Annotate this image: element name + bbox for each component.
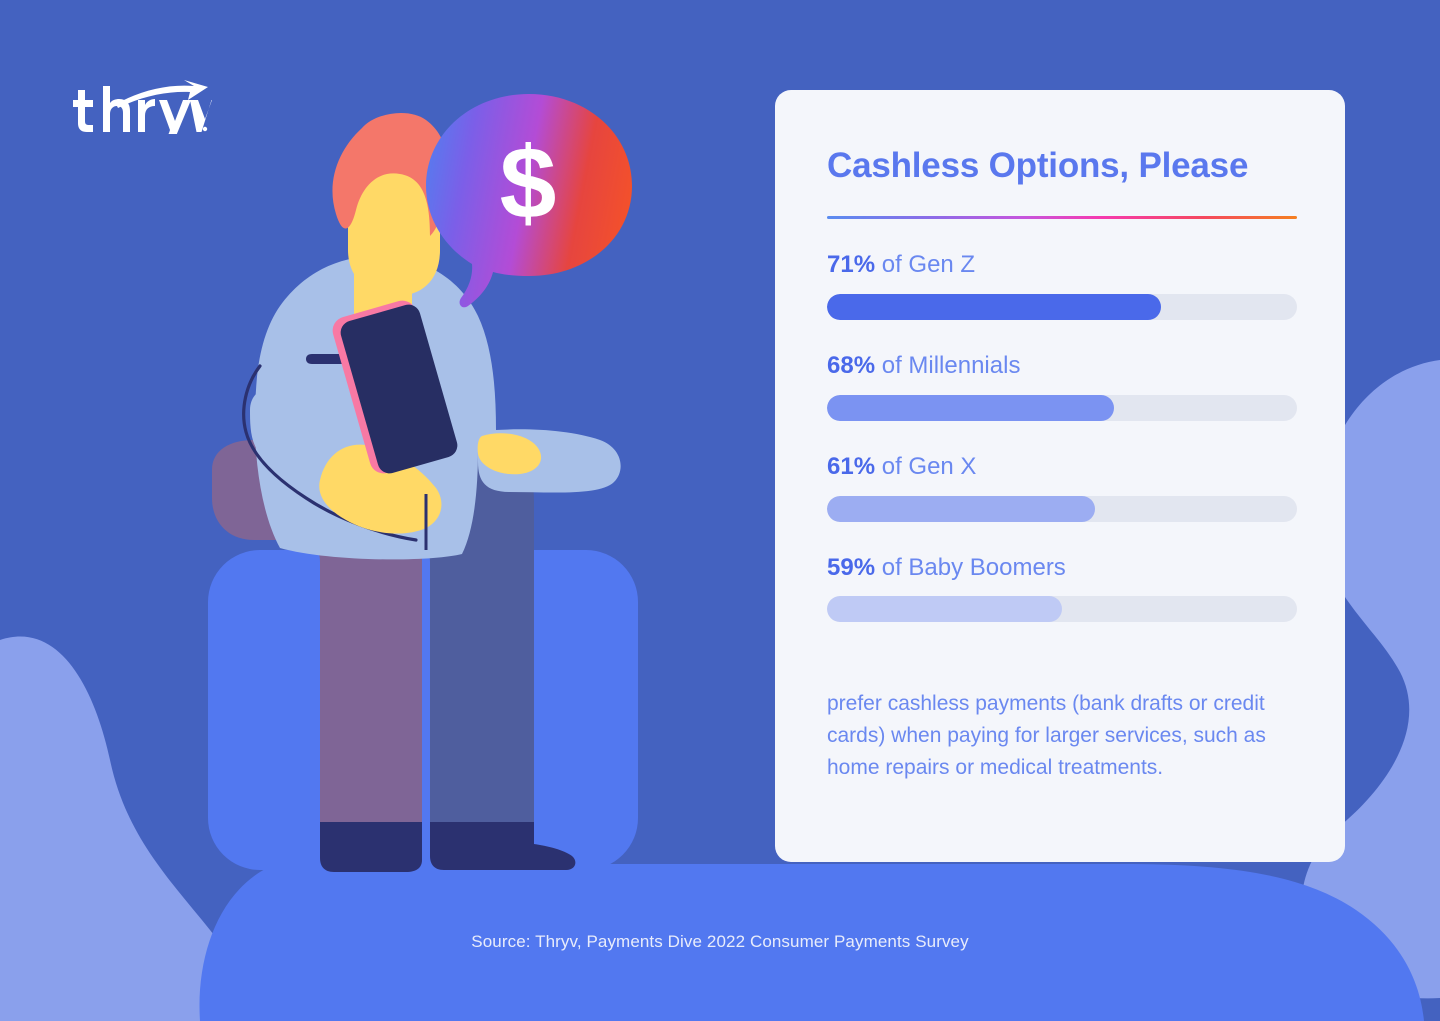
- stat-group: of Baby Boomers: [875, 554, 1066, 581]
- stat-label: 61% of Gen X: [827, 453, 1293, 482]
- stats-card: Cashless Options, Please 71% of Gen Z 68…: [775, 90, 1345, 862]
- stat-label: 71% of Gen Z: [827, 251, 1293, 280]
- stat-percent: 68%: [827, 352, 875, 379]
- card-footnote: prefer cashless payments (bank drafts or…: [827, 688, 1301, 784]
- stat-row-gen-x: 61% of Gen X: [827, 453, 1293, 522]
- source-attribution: Source: Thryv, Payments Dive 2022 Consum…: [0, 932, 1440, 952]
- stat-percent: 71%: [827, 251, 875, 278]
- shoe-left: [320, 822, 422, 872]
- stat-percent: 61%: [827, 453, 875, 480]
- stat-percent: 59%: [827, 554, 875, 581]
- stat-group: of Gen X: [875, 453, 976, 480]
- infographic-canvas: $ Cashless Options, Please 71% of Gen Z …: [0, 0, 1440, 1021]
- stat-row-gen-z: 71% of Gen Z: [827, 251, 1293, 320]
- page-title: Cashless Options, Please: [827, 146, 1293, 186]
- stat-label: 68% of Millennials: [827, 352, 1293, 381]
- stat-row-baby-boomers: 59% of Baby Boomers: [827, 554, 1293, 623]
- stat-label: 59% of Baby Boomers: [827, 554, 1293, 583]
- seat-shape: [208, 550, 638, 870]
- bar-fill: [827, 395, 1114, 421]
- stat-group: of Gen Z: [875, 251, 975, 278]
- stat-group: of Millennials: [875, 352, 1020, 379]
- bar-fill: [827, 596, 1062, 622]
- bar-track: [827, 496, 1297, 522]
- bar-track: [827, 395, 1297, 421]
- dollar-speech-bubble: $: [424, 92, 634, 314]
- stat-row-millennials: 68% of Millennials: [827, 352, 1293, 421]
- bar-fill: [827, 496, 1095, 522]
- bar-track: [827, 596, 1297, 622]
- gradient-divider: [827, 216, 1297, 219]
- bar-track: [827, 294, 1297, 320]
- dollar-symbol: $: [500, 126, 557, 240]
- bar-fill: [827, 294, 1161, 320]
